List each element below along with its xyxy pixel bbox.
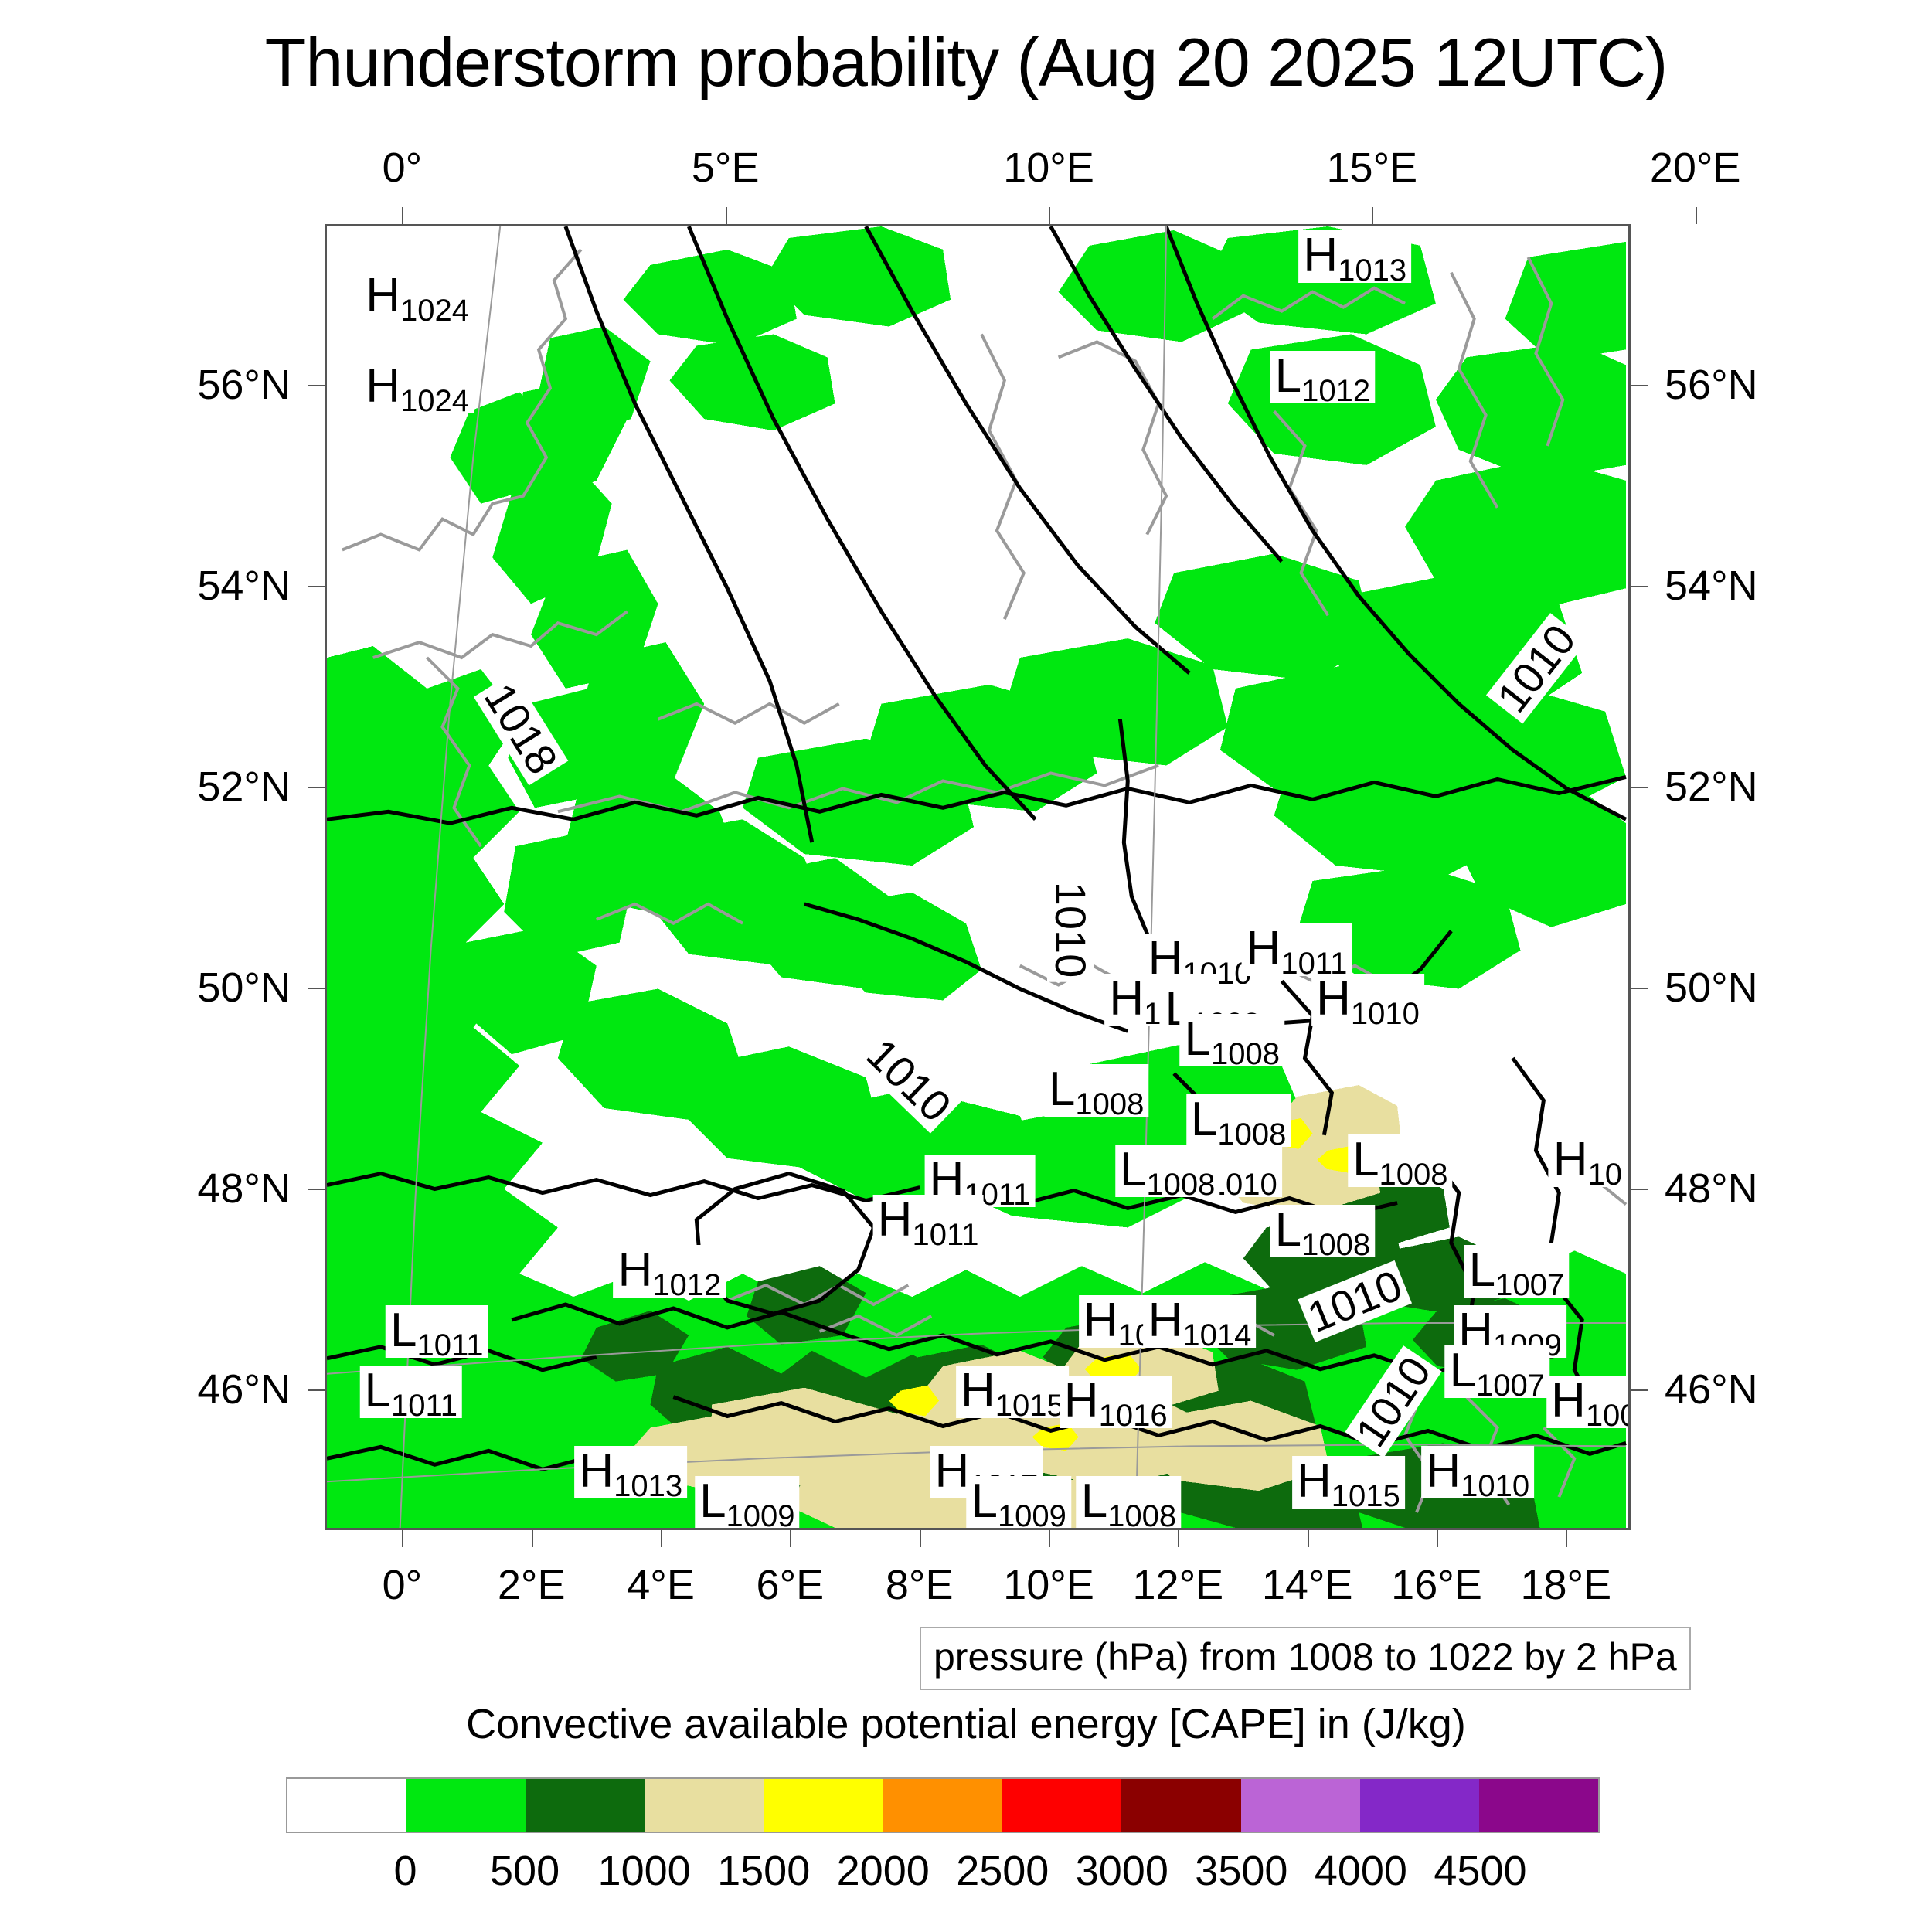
pressure-center-h-9: H1010 [1311, 974, 1424, 1026]
pressure-center-l-33: L1009 [695, 1476, 799, 1529]
axis-label-left-2: 52°N [197, 763, 291, 811]
pressure-center-value: 10 [1588, 1158, 1623, 1192]
tick-left-5 [308, 1389, 325, 1391]
colorbar-swatch-10[interactable] [1479, 1779, 1598, 1832]
axis-label-bottom-9: 18°E [1520, 1561, 1611, 1609]
axis-label-bottom-2: 4°E [627, 1561, 695, 1609]
axis-label-bottom-3: 6°E [757, 1561, 825, 1609]
tick-right-1 [1631, 586, 1648, 587]
pressure-center-value: 1013 [1338, 253, 1406, 287]
pressure-center-type: H [618, 1243, 653, 1297]
colorbar-swatch-9[interactable] [1360, 1779, 1479, 1832]
pressure-center-type: H [878, 1193, 913, 1247]
axis-label-bottom-8: 16°E [1391, 1561, 1482, 1609]
pressure-center-type: L [1275, 349, 1301, 403]
tick-bottom-4 [920, 1530, 921, 1547]
tick-left-4 [308, 1189, 325, 1190]
pressure-center-type: H [961, 1364, 995, 1417]
axis-label-top-3: 15°E [1327, 144, 1418, 192]
pressure-center-type: H [579, 1444, 614, 1498]
pressure-center-value: 1008 [1301, 1228, 1370, 1262]
colorbar-swatch-2[interactable] [526, 1779, 645, 1832]
colorbar-tick-labels: 050010001500200025003000350040004500 [286, 1847, 1600, 1901]
tick-bottom-5 [1049, 1530, 1050, 1547]
pressure-center-l-21: L1011 [386, 1305, 488, 1358]
axis-label-left-0: 56°N [197, 361, 291, 409]
pressure-center-type: H [1064, 1374, 1099, 1427]
pressure-center-value: 1007 [1476, 1369, 1545, 1403]
pressure-center-type: H [1109, 972, 1144, 1026]
pressure-center-h-15: H10 [1549, 1134, 1627, 1187]
pressure-center-value: 1012 [652, 1268, 721, 1302]
pressure-center-type: L [971, 1475, 997, 1528]
tick-left-3 [308, 988, 325, 989]
pressure-center-type: L [365, 1364, 391, 1417]
pressure-center-type: H [934, 1444, 969, 1498]
pressure-center-type: L [1191, 1093, 1217, 1146]
pressure-center-value: 1010 [1351, 997, 1420, 1031]
pressure-center-value: 1011 [417, 1328, 483, 1362]
pressure-center-value: 1010 [1461, 1469, 1529, 1503]
pressure-center-h-29: H100 [1546, 1376, 1631, 1428]
axis-label-right-3: 50°N [1665, 964, 1758, 1012]
axis-label-top-0: 0° [383, 144, 423, 192]
pressure-center-value: 1008 [1211, 1037, 1280, 1071]
pressure-center-l-7: L1008 [1180, 1014, 1284, 1066]
pressure-center-h-32: H1013 [574, 1446, 687, 1498]
contour-label-2: 1010 [1047, 878, 1094, 982]
axis-label-left-1: 54°N [197, 562, 291, 610]
axis-label-right-1: 54°N [1665, 562, 1758, 610]
pressure-center-value: 1015 [995, 1389, 1064, 1423]
pressure-center-h-28: H1016 [1060, 1376, 1172, 1428]
pressure-center-l-19: L1007 [1464, 1245, 1569, 1298]
tick-bottom-3 [790, 1530, 791, 1547]
pressure-center-type: L [699, 1475, 726, 1528]
axis-label-top-1: 5°E [692, 144, 760, 192]
tick-bottom-6 [1178, 1530, 1179, 1547]
pressure-center-value: 1014 [1182, 1318, 1251, 1352]
colorbar-tick-2: 1000 [598, 1847, 691, 1895]
axis-label-bottom-0: 0° [383, 1561, 423, 1609]
pressure-center-l-18: L1008 [1270, 1205, 1375, 1257]
axis-label-top-2: 10°E [1003, 144, 1094, 192]
axis-label-bottom-5: 10°E [1003, 1561, 1094, 1609]
pressure-center-value: 100 [1586, 1399, 1631, 1433]
pressure-center-l-11: L1008 [1186, 1094, 1291, 1147]
pressure-center-value: 1008 [1146, 1168, 1215, 1202]
axis-label-bottom-7: 14°E [1262, 1561, 1353, 1609]
pressure-center-l-14: L1008 [1348, 1134, 1452, 1187]
pressure-center-value: 1011 [391, 1389, 457, 1423]
pressure-center-value: 1009 [726, 1499, 795, 1530]
colorbar-tick-8: 4000 [1315, 1847, 1407, 1895]
pressure-center-type: L [1081, 1475, 1107, 1528]
pressure-center-value: 1013 [614, 1469, 682, 1503]
colorbar-swatch-0[interactable] [287, 1779, 406, 1832]
axis-label-bottom-4: 8°E [886, 1561, 954, 1609]
tick-top-0 [402, 207, 403, 224]
pressure-center-value: 1008 [1379, 1158, 1448, 1192]
colorbar-tick-5: 2500 [956, 1847, 1049, 1895]
page-title: Thunderstorm probability (Aug 20 2025 12… [0, 23, 1932, 102]
pressure-center-value: 1009 [998, 1499, 1066, 1530]
pressure-center-type: H [1551, 1374, 1586, 1427]
tick-bottom-9 [1566, 1530, 1567, 1547]
axis-label-bottom-6: 12°E [1133, 1561, 1224, 1609]
axis-label-bottom-1: 2°E [498, 1561, 566, 1609]
pressure-center-h-8: H1011 [1242, 923, 1352, 976]
pressure-center-l-13: L1008 [1115, 1145, 1219, 1197]
colorbar-tick-9: 4500 [1434, 1847, 1526, 1895]
pressure-center-type: L [1450, 1344, 1476, 1397]
colorbar-swatch-4[interactable] [764, 1779, 883, 1832]
pressure-center-value: 1008 [1107, 1499, 1176, 1530]
pressure-center-value: 1007 [1495, 1268, 1564, 1302]
pressure-caption: pressure (hPa) from 1008 to 1022 by 2 hP… [920, 1627, 1691, 1690]
pressure-center-type: H [1316, 972, 1351, 1026]
axis-label-right-5: 46°N [1665, 1366, 1758, 1413]
tick-right-4 [1631, 1189, 1648, 1190]
tick-bottom-7 [1308, 1530, 1309, 1547]
pressure-center-h-24: H1014 [1144, 1295, 1257, 1348]
tick-right-3 [1631, 988, 1648, 989]
pressure-center-h-27: H1015 [956, 1366, 1069, 1418]
colorbar-tick-6: 3000 [1076, 1847, 1168, 1895]
pressure-center-value: 1008 [1075, 1087, 1144, 1121]
pressure-center-type: H [1553, 1133, 1588, 1186]
pressure-center-value: 1016 [1099, 1399, 1168, 1433]
pressure-center-value: 1024 [400, 294, 469, 328]
pressure-center-l-35: L1008 [1077, 1476, 1181, 1529]
tick-left-1 [308, 586, 325, 587]
colorbar-tick-3: 1500 [717, 1847, 810, 1895]
axis-label-right-4: 48°N [1665, 1165, 1758, 1213]
colorbar-swatch-1[interactable] [406, 1779, 526, 1832]
pressure-center-l-3: L1012 [1270, 351, 1375, 403]
axis-label-right-2: 52°N [1665, 763, 1758, 811]
colorbar-swatch-7[interactable] [1121, 1779, 1240, 1832]
pressure-center-type: H [366, 359, 400, 413]
pressure-center-h-31: H1010 [1421, 1446, 1534, 1498]
pressure-center-type: L [1120, 1143, 1146, 1196]
colorbar-tick-0: 0 [394, 1847, 417, 1895]
axis-label-top-4: 20°E [1650, 144, 1741, 192]
pressure-center-h-17: H1011 [873, 1195, 984, 1247]
pressure-center-type: L [1049, 1063, 1075, 1116]
tick-left-2 [308, 787, 325, 788]
pressure-center-h-0: H1024 [361, 270, 474, 323]
axis-label-left-3: 50°N [197, 964, 291, 1012]
pressure-center-h-1: H1024 [361, 361, 474, 413]
colorbar[interactable] [286, 1777, 1600, 1833]
pressure-center-l-26: L1007 [1445, 1345, 1549, 1398]
tick-bottom-1 [532, 1530, 533, 1547]
tick-bottom-0 [402, 1530, 403, 1547]
axis-label-right-0: 56°N [1665, 361, 1758, 409]
tick-right-0 [1631, 385, 1648, 386]
colorbar-swatch-6[interactable] [1002, 1779, 1121, 1832]
pressure-center-type: H [1148, 1294, 1183, 1347]
tick-top-2 [1049, 207, 1050, 224]
pressure-center-h-20: H1012 [614, 1245, 726, 1298]
colorbar-swatch-8[interactable] [1241, 1779, 1360, 1832]
colorbar-tick-1: 500 [490, 1847, 560, 1895]
pressure-center-type: H [366, 269, 400, 322]
tick-right-5 [1631, 1389, 1648, 1391]
tick-bottom-8 [1437, 1530, 1438, 1547]
colorbar-tick-7: 3500 [1195, 1847, 1287, 1895]
pressure-center-type: L [390, 1304, 417, 1357]
pressure-center-type: H [1426, 1444, 1461, 1498]
axis-label-left-5: 46°N [197, 1366, 291, 1413]
tick-left-0 [308, 385, 325, 386]
pressure-center-value: 1024 [400, 384, 469, 418]
colorbar-title: Convective available potential energy [C… [0, 1700, 1932, 1748]
pressure-center-type: H [1247, 922, 1281, 975]
pressure-center-h-36: H1015 [1292, 1456, 1405, 1509]
pressure-center-type: H [1303, 229, 1338, 282]
pressure-center-value: 1012 [1301, 374, 1370, 408]
colorbar-swatch-3[interactable] [645, 1779, 764, 1832]
colorbar-swatch-5[interactable] [883, 1779, 1002, 1832]
pressure-center-l-10: L1008 [1044, 1064, 1148, 1117]
pressure-center-type: L [1185, 1012, 1211, 1066]
pressure-center-h-2: H1013 [1298, 230, 1411, 283]
map-canvas [327, 226, 1628, 1528]
pressure-center-value: 1015 [1332, 1479, 1400, 1513]
tick-top-4 [1696, 207, 1697, 224]
pressure-center-l-22: L1011 [360, 1366, 463, 1418]
pressure-center-type: H [1083, 1294, 1118, 1347]
pressure-center-type: L [1469, 1243, 1495, 1297]
pressure-center-type: L [1275, 1203, 1301, 1257]
pressure-center-value: 1011 [912, 1218, 978, 1252]
pressure-center-type: L [1352, 1133, 1379, 1186]
tick-right-2 [1631, 787, 1648, 788]
tick-bottom-2 [661, 1530, 662, 1547]
pressure-center-l-34: L1009 [966, 1476, 1070, 1529]
tick-top-3 [1372, 207, 1373, 224]
colorbar-tick-4: 2000 [837, 1847, 930, 1895]
pressure-center-type: H [1297, 1454, 1332, 1508]
axis-label-left-4: 48°N [197, 1165, 291, 1213]
tick-top-1 [726, 207, 727, 224]
map-plot-area[interactable]: H1024H1024H1013L1012H1010H1010L1008L1008… [325, 224, 1631, 1530]
